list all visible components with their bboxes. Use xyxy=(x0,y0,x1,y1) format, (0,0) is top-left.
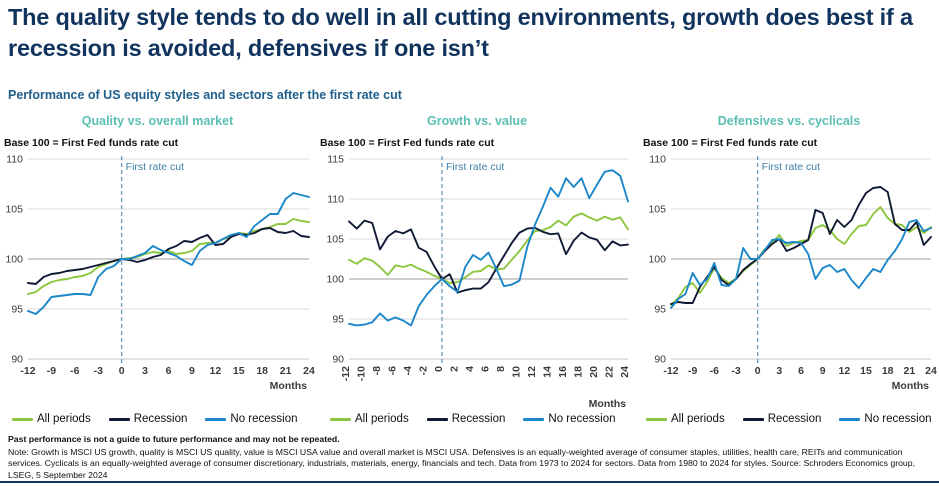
y-axis-tick-label: 90 xyxy=(654,354,666,366)
legend-swatch-recession xyxy=(427,418,448,421)
first-rate-cut-label: First rate cut xyxy=(126,161,184,173)
x-axis-tick-label: -9 xyxy=(688,365,697,377)
x-axis-tick-label: 8 xyxy=(495,366,507,372)
source-note: Note: Growth is MSCI US growth, quality … xyxy=(8,447,933,482)
x-axis-tick-label: 12 xyxy=(838,365,850,377)
x-axis-tick-label: 10 xyxy=(511,366,523,378)
chart-legend-quality: All periodsRecessionNo recession xyxy=(12,413,312,429)
y-axis-tick-label: 95 xyxy=(332,314,344,326)
x-axis-tick-label: 3 xyxy=(776,365,782,377)
x-axis-tick-label: 9 xyxy=(820,365,826,377)
series-line-all-periods xyxy=(28,219,309,294)
x-axis-tick-label: 6 xyxy=(480,366,492,372)
x-axis-tick-label: 21 xyxy=(903,365,915,377)
panel-title: Growth vs. value xyxy=(316,112,638,131)
y-axis-tick-label: 100 xyxy=(5,254,23,266)
first-rate-cut-label: First rate cut xyxy=(762,161,820,173)
panel-base-note: Base 100 = First Fed funds rate cut xyxy=(0,137,315,151)
x-axis-tick-label: 14 xyxy=(542,366,554,378)
first-rate-cut-label: First rate cut xyxy=(446,161,504,173)
x-axis-tick-label: 6 xyxy=(798,365,804,377)
x-axis-tick-label: 0 xyxy=(119,365,125,377)
legend-swatch-all-periods xyxy=(646,418,667,421)
chart-svg-2: 9095100105110First rate cut-12-9-6-30369… xyxy=(639,151,939,413)
x-axis-tick-label: 12 xyxy=(526,366,538,378)
x-axis-tick-label: -6 xyxy=(70,365,79,377)
legend-item-no-recession[interactable]: No recession xyxy=(523,413,615,425)
legend-row: All periodsRecessionNo recession xyxy=(12,413,312,425)
chart-canvas: 9095100105110115First rate cut-12-10-8-6… xyxy=(316,151,638,413)
chart-legend-defensives: All periodsRecessionNo recession xyxy=(646,413,939,429)
series-line-no-recession xyxy=(28,193,309,314)
x-axis-tick-label: -10 xyxy=(356,366,368,381)
chart-svg-1: 9095100105110115First rate cut-12-10-8-6… xyxy=(316,151,638,413)
legend-label: Recession xyxy=(768,413,822,425)
legend-label: Recession xyxy=(452,413,506,425)
y-axis-tick-label: 115 xyxy=(327,154,344,166)
legend-item-recession[interactable]: Recession xyxy=(427,413,506,425)
y-axis-tick-label: 110 xyxy=(6,154,23,166)
panel-title: Quality vs. overall market xyxy=(0,112,315,131)
series-line-no-recession xyxy=(671,220,931,308)
x-axis-title: Months xyxy=(589,398,626,410)
x-axis-tick-label: 15 xyxy=(233,365,245,377)
x-axis-tick-label: -2 xyxy=(418,366,430,375)
panel-base-note: Base 100 = First Fed funds rate cut xyxy=(639,137,939,151)
legend-swatch-no-recession xyxy=(205,418,226,421)
x-axis-title: Months xyxy=(270,380,307,392)
legend-item-all-periods[interactable]: All periods xyxy=(12,413,91,425)
x-axis-tick-label: 18 xyxy=(573,366,585,378)
legend-swatch-all-periods xyxy=(12,418,33,421)
series-line-no-recession xyxy=(349,170,628,325)
page-headline: The quality style tends to do well in al… xyxy=(8,2,928,64)
legend-swatch-all-periods xyxy=(330,418,351,421)
x-axis-tick-label: 4 xyxy=(464,366,476,372)
x-axis-tick-label: -12 xyxy=(663,365,678,377)
legend-swatch-no-recession xyxy=(839,418,860,421)
x-axis-tick-label: -6 xyxy=(387,366,399,375)
y-axis-tick-label: 100 xyxy=(648,254,666,266)
legend-label: No recession xyxy=(864,413,931,425)
page-subtitle: Performance of US equity styles and sect… xyxy=(8,88,402,102)
chart-svg-0: 9095100105110First rate cut-12-9-6-30369… xyxy=(0,151,315,413)
bottom-rule xyxy=(0,481,939,483)
x-axis-tick-label: 16 xyxy=(557,366,569,378)
legend-item-recession[interactable]: Recession xyxy=(743,413,822,425)
x-axis-tick-label: 18 xyxy=(882,365,894,377)
legend-item-all-periods[interactable]: All periods xyxy=(646,413,725,425)
chart-panel-defensives: Defensives vs. cyclicals Base 100 = Firs… xyxy=(639,112,939,412)
legend-label: No recession xyxy=(230,413,297,425)
legend-swatch-no-recession xyxy=(523,418,544,421)
x-axis-tick-label: -6 xyxy=(710,365,719,377)
x-axis-tick-label: 12 xyxy=(209,365,221,377)
series-line-recession xyxy=(28,228,309,284)
x-axis-tick-label: -12 xyxy=(20,365,35,377)
legend-item-no-recession[interactable]: No recession xyxy=(839,413,931,425)
chart-canvas: 9095100105110First rate cut-12-9-6-30369… xyxy=(0,151,315,413)
x-axis-tick-label: 0 xyxy=(433,366,445,372)
x-axis-tick-label: 21 xyxy=(280,365,292,377)
panel-base-note: Base 100 = First Fed funds rate cut xyxy=(316,137,638,151)
y-axis-tick-label: 105 xyxy=(326,234,344,246)
legend-row: All periodsRecessionNo recession xyxy=(330,413,630,425)
y-axis-tick-label: 110 xyxy=(327,194,344,206)
legend-item-no-recession[interactable]: No recession xyxy=(205,413,297,425)
legend-swatch-recession xyxy=(109,418,130,421)
legend-label: All periods xyxy=(37,413,91,425)
x-axis-tick-label: 9 xyxy=(189,365,195,377)
x-axis-tick-label: 0 xyxy=(755,365,761,377)
x-axis-tick-label: 2 xyxy=(449,366,461,372)
series-line-recession xyxy=(671,187,931,304)
x-axis-tick-label: 3 xyxy=(142,365,148,377)
x-axis-tick-label: 24 xyxy=(925,365,937,377)
y-axis-tick-label: 100 xyxy=(326,274,344,286)
x-axis-tick-label: 24 xyxy=(619,366,631,378)
series-line-all-periods xyxy=(349,213,628,283)
y-axis-tick-label: 90 xyxy=(332,354,344,366)
x-axis-title: Months xyxy=(892,380,929,392)
x-axis-tick-label: 15 xyxy=(860,365,872,377)
x-axis-tick-label: -9 xyxy=(47,365,56,377)
chart-legend-growth: All periodsRecessionNo recession xyxy=(330,413,630,429)
legend-label: All periods xyxy=(355,413,409,425)
x-axis-tick-label: 6 xyxy=(166,365,172,377)
x-axis-tick-label: -8 xyxy=(371,366,383,375)
y-axis-tick-label: 110 xyxy=(649,154,666,166)
x-axis-tick-label: 22 xyxy=(604,366,616,378)
legend-label: Recession xyxy=(134,413,188,425)
x-axis-tick-label: -3 xyxy=(94,365,103,377)
chart-panel-quality: Quality vs. overall market Base 100 = Fi… xyxy=(0,112,315,412)
y-axis-tick-label: 105 xyxy=(648,204,666,216)
footnotes: Past performance is not a guide to futur… xyxy=(8,434,933,481)
x-axis-tick-label: -12 xyxy=(340,366,352,381)
past-performance-disclaimer: Past performance is not a guide to futur… xyxy=(8,434,933,446)
chart-canvas: 9095100105110First rate cut-12-9-6-30369… xyxy=(639,151,939,413)
y-axis-tick-label: 105 xyxy=(5,204,23,216)
x-axis-tick-label: 20 xyxy=(588,366,600,378)
x-axis-tick-label: -4 xyxy=(402,366,414,375)
series-line-recession xyxy=(349,221,628,293)
chart-panel-growth: Growth vs. value Base 100 = First Fed fu… xyxy=(316,112,638,412)
legend-swatch-recession xyxy=(743,418,764,421)
legend-row: All periodsRecessionNo recession xyxy=(646,413,939,425)
panel-title: Defensives vs. cyclicals xyxy=(639,112,939,131)
legend-label: No recession xyxy=(548,413,615,425)
y-axis-tick-label: 90 xyxy=(11,354,23,366)
y-axis-tick-label: 95 xyxy=(11,304,23,316)
x-axis-tick-label: 24 xyxy=(303,365,315,377)
x-axis-tick-label: -3 xyxy=(731,365,740,377)
x-axis-tick-label: 18 xyxy=(256,365,268,377)
y-axis-tick-label: 95 xyxy=(654,304,666,316)
legend-label: All periods xyxy=(671,413,725,425)
legend-item-all-periods[interactable]: All periods xyxy=(330,413,409,425)
legend-item-recession[interactable]: Recession xyxy=(109,413,188,425)
